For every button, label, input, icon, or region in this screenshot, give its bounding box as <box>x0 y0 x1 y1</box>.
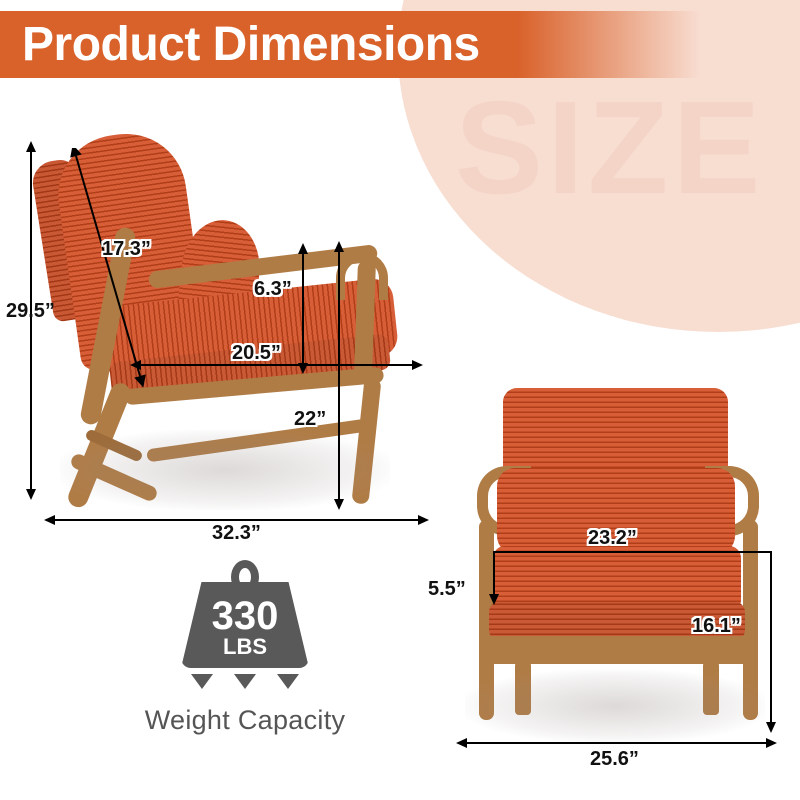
dimlabel-cushion-thickness: 5.5” <box>428 578 466 601</box>
floor-shadow-front <box>465 670 765 742</box>
chair-front-view <box>455 370 775 760</box>
dimarrow-arm-height-bottom <box>334 499 344 510</box>
dimarrow-seat-depth-left <box>130 360 141 370</box>
arm-loop-curve <box>336 252 388 300</box>
dimline-overall-depth <box>52 519 426 521</box>
dimline-overall-height <box>30 150 32 498</box>
dimlabel-overall-width: 25.6” <box>590 748 639 771</box>
down-triangle-icon <box>277 674 299 689</box>
dimarrow-overall-width-right <box>766 738 777 748</box>
dimlabel-seat-height: 16.1” <box>692 615 741 638</box>
size-watermark-text: SIZE <box>455 72 764 223</box>
dimarrow-overall-height-top <box>26 141 36 152</box>
dimlabel-overall-depth: 32.3” <box>212 522 261 545</box>
dimarrow-overall-height-bottom <box>26 489 36 500</box>
weight-capacity-number: 330 <box>181 596 309 636</box>
dimlabel-overall-height: 29.5” <box>6 300 55 323</box>
dimarrow-arm-height-top <box>334 241 344 252</box>
dimlabel-backrest-height: 17.3” <box>102 238 151 261</box>
dimarrow-cushion-thickness <box>489 594 499 605</box>
weight-capacity-group: 330 LBS Weight Capacity <box>110 560 380 736</box>
dimlabel-seat-depth: 20.5” <box>232 342 281 365</box>
dimline-armrest-clearance <box>302 252 304 372</box>
weight-arrows-group <box>181 674 309 689</box>
floor-shadow <box>60 430 390 510</box>
dimarrow-seat-height <box>766 722 776 733</box>
dimline-seat-width <box>493 551 771 553</box>
dimarrow-seat-depth-right <box>412 360 423 370</box>
dimline-backrest-height <box>68 148 188 388</box>
dimlabel-armrest-clearance: 6.3” <box>254 278 292 301</box>
dimlabel-seat-width: 23.2” <box>588 527 637 550</box>
dimarrow-overall-depth-left <box>44 515 55 525</box>
dimlabel-arm-height: 22” <box>294 408 326 431</box>
weight-capacity-caption: Weight Capacity <box>110 705 380 736</box>
dimline-arm-height <box>338 250 340 508</box>
dimarrow-armrest-bottom <box>298 363 308 374</box>
dimarrow-overall-width-left <box>456 738 467 748</box>
down-triangle-icon <box>191 674 213 689</box>
weight-capacity-unit: LBS <box>181 636 309 658</box>
dimarrow-armrest-top <box>298 243 308 254</box>
dimline-seat-height <box>770 551 772 731</box>
header-banner: Product Dimensions <box>0 11 700 78</box>
dimarrow-overall-depth-right <box>418 515 429 525</box>
weight-icon: 330 LBS <box>181 560 309 668</box>
dimline-overall-width <box>464 742 774 744</box>
page-title: Product Dimensions <box>0 21 480 69</box>
down-triangle-icon <box>234 674 256 689</box>
